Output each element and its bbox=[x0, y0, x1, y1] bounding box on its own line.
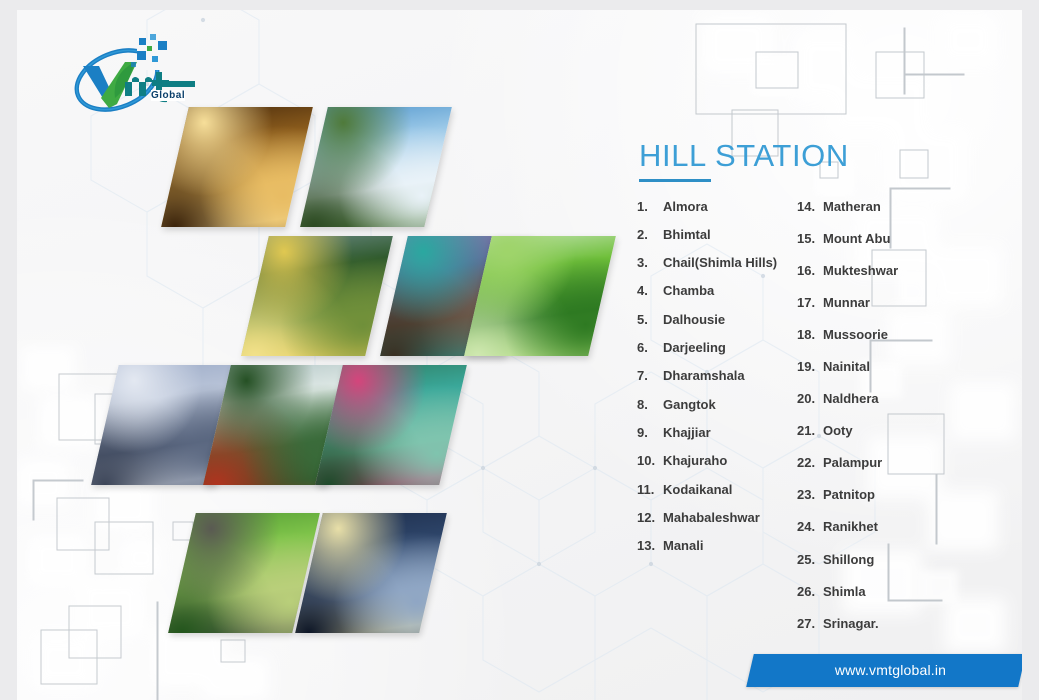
list-item-label: Mount Abu bbox=[823, 232, 890, 245]
list-item-label: Ooty bbox=[823, 424, 853, 437]
photo-image bbox=[241, 236, 393, 356]
list-item-number: 10. bbox=[637, 454, 663, 467]
screenshot-root: Global HILL STATION 1.Almora2.Bhimtal3.C… bbox=[0, 0, 1039, 700]
list-item-number: 1. bbox=[637, 200, 663, 213]
list-item-number: 11. bbox=[637, 483, 663, 496]
list-item-label: Mussoorie bbox=[823, 328, 888, 341]
list-item-number: 26. bbox=[797, 585, 823, 598]
list-item: 21.Ooty bbox=[797, 424, 967, 437]
photo-hairpin-road bbox=[168, 513, 320, 633]
list-item-number: 12. bbox=[637, 511, 663, 524]
list-item-label: Ranikhet bbox=[823, 520, 878, 533]
list-item-number: 8. bbox=[637, 398, 663, 411]
list-item: 6.Darjeeling bbox=[637, 341, 797, 354]
list-item-number: 17. bbox=[797, 296, 823, 309]
list-item: 16.Mukteshwar bbox=[797, 264, 967, 277]
list-item-number: 4. bbox=[637, 284, 663, 297]
photo-image bbox=[168, 513, 320, 633]
page-title: HILL STATION bbox=[617, 140, 1017, 173]
list-item: 22.Palampur bbox=[797, 456, 967, 469]
list-item-label: Shimla bbox=[823, 585, 866, 598]
list-item: 1.Almora bbox=[637, 200, 797, 213]
list-item-number: 27. bbox=[797, 617, 823, 630]
list-item-number: 19. bbox=[797, 360, 823, 373]
list-item-label: Naldhera bbox=[823, 392, 879, 405]
list-item-label: Shillong bbox=[823, 553, 874, 566]
list-item: 15.Mount Abu bbox=[797, 232, 967, 245]
list-item-label: Khajjiar bbox=[663, 426, 711, 439]
list-item-number: 22. bbox=[797, 456, 823, 469]
list-item: 5.Dalhousie bbox=[637, 313, 797, 326]
list-item: 25.Shillong bbox=[797, 553, 967, 566]
list-item: 11.Kodaikanal bbox=[637, 483, 797, 496]
list-item-number: 3. bbox=[637, 256, 663, 269]
list-item-label: Khajuraho bbox=[663, 454, 727, 467]
list-item-label: Manali bbox=[663, 539, 703, 552]
list-item-label: Mukteshwar bbox=[823, 264, 898, 277]
photo-mossy-waterfall bbox=[464, 236, 616, 356]
list-item: 12.Mahabaleshwar bbox=[637, 511, 797, 524]
list-item-number: 23. bbox=[797, 488, 823, 501]
list-item-number: 2. bbox=[637, 228, 663, 241]
list-item-label: Almora bbox=[663, 200, 708, 213]
list-item-label: Kodaikanal bbox=[663, 483, 732, 496]
list-item-label: Palampur bbox=[823, 456, 882, 469]
list-item: 14.Matheran bbox=[797, 200, 967, 213]
list-item-label: Dharamshala bbox=[663, 369, 745, 382]
list-item-label: Chamba bbox=[663, 284, 714, 297]
list-item: 3.Chail(Shimla Hills) bbox=[637, 256, 797, 269]
list-item-label: Mahabaleshwar bbox=[663, 511, 760, 524]
list-item: 26.Shimla bbox=[797, 585, 967, 598]
list-item-label: Srinagar. bbox=[823, 617, 879, 630]
photo-lake-flag-park bbox=[315, 365, 467, 485]
list-item-number: 15. bbox=[797, 232, 823, 245]
list-item-label: Chail(Shimla Hills) bbox=[663, 256, 777, 269]
list-item: 17.Munnar bbox=[797, 296, 967, 309]
photo-night-valley-lights bbox=[295, 513, 447, 633]
list-item-number: 9. bbox=[637, 426, 663, 439]
list-item-label: Munnar bbox=[823, 296, 870, 309]
list-item: 20.Naldhera bbox=[797, 392, 967, 405]
hill-station-list-left: 1.Almora2.Bhimtal3.Chail(Shimla Hills)4.… bbox=[637, 200, 797, 649]
list-item-number: 5. bbox=[637, 313, 663, 326]
list-item-label: Darjeeling bbox=[663, 341, 726, 354]
list-item: 4.Chamba bbox=[637, 284, 797, 297]
list-item-number: 13. bbox=[637, 539, 663, 552]
list-item-number: 25. bbox=[797, 553, 823, 566]
hill-station-list-right: 14.Matheran15.Mount Abu16.Mukteshwar17.M… bbox=[797, 200, 967, 649]
slide-canvas: Global HILL STATION 1.Almora2.Bhimtal3.C… bbox=[17, 10, 1022, 700]
list-item-number: 6. bbox=[637, 341, 663, 354]
list-item: 27.Srinagar. bbox=[797, 617, 967, 630]
logo-wordmark: Global bbox=[151, 90, 185, 101]
photo-hill-village-night bbox=[161, 107, 313, 227]
photo-image bbox=[295, 513, 447, 633]
list-item-label: Bhimtal bbox=[663, 228, 711, 241]
list-item: 9.Khajjiar bbox=[637, 426, 797, 439]
list-item-number: 21. bbox=[797, 424, 823, 437]
list-item-number: 18. bbox=[797, 328, 823, 341]
list-item-label: Matheran bbox=[823, 200, 881, 213]
list-item: 19.Nainital bbox=[797, 360, 967, 373]
hill-station-lists: 1.Almora2.Bhimtal3.Chail(Shimla Hills)4.… bbox=[617, 200, 1017, 649]
list-item: 10.Khajuraho bbox=[637, 454, 797, 467]
list-item: 23.Patnitop bbox=[797, 488, 967, 501]
list-item-number: 14. bbox=[797, 200, 823, 213]
list-item: 7.Dharamshala bbox=[637, 369, 797, 382]
list-item-label: Patnitop bbox=[823, 488, 875, 501]
vmt-global-logo: Global bbox=[55, 32, 195, 118]
photo-image bbox=[300, 107, 452, 227]
photo-image bbox=[315, 365, 467, 485]
list-item-label: Gangtok bbox=[663, 398, 716, 411]
vmt-logo-mark bbox=[55, 32, 195, 118]
title-underline bbox=[639, 179, 711, 182]
list-item-number: 20. bbox=[797, 392, 823, 405]
photo-image bbox=[161, 107, 313, 227]
website-url-text[interactable]: www.vmtglobal.in bbox=[763, 662, 1018, 678]
list-item: 18.Mussoorie bbox=[797, 328, 967, 341]
list-item: 2.Bhimtal bbox=[637, 228, 797, 241]
list-item-number: 24. bbox=[797, 520, 823, 533]
list-item-number: 16. bbox=[797, 264, 823, 277]
list-item-label: Dalhousie bbox=[663, 313, 725, 326]
hill-station-panel: HILL STATION 1.Almora2.Bhimtal3.Chail(Sh… bbox=[617, 140, 1017, 649]
list-item: 8.Gangtok bbox=[637, 398, 797, 411]
photo-terraced-fields bbox=[241, 236, 393, 356]
list-item: 24.Ranikhet bbox=[797, 520, 967, 533]
photo-hill-town-daylight bbox=[300, 107, 452, 227]
list-item: 13.Manali bbox=[637, 539, 797, 552]
photo-image bbox=[464, 236, 616, 356]
list-item-number: 7. bbox=[637, 369, 663, 382]
list-item-label: Nainital bbox=[823, 360, 870, 373]
